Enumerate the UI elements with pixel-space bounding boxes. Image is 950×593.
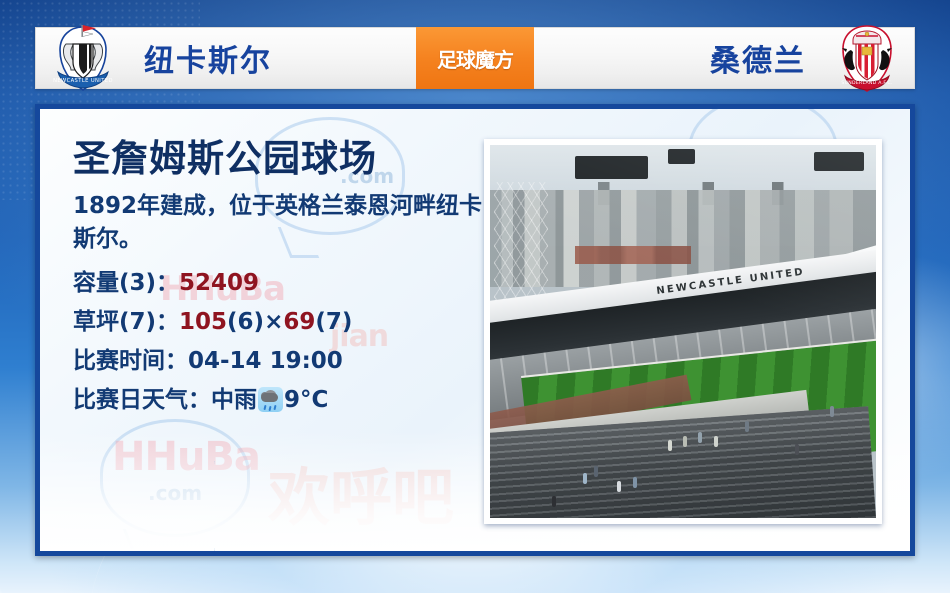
pitch-multiply-sign: × — [264, 309, 283, 335]
pitch-label: 草坪(7)： — [73, 309, 179, 335]
match-time-row: 比赛时间：04-14 19:00 — [73, 342, 483, 381]
stadium-title: 圣詹姆斯公园球场 — [73, 139, 483, 180]
sunderland-crest-icon: SUNDERLAND A.F.C. — [834, 22, 900, 94]
stadium-description: 1892年建成，位于英格兰泰恩河畔纽卡斯尔。 — [73, 190, 483, 256]
away-team-name: 桑德兰 — [710, 36, 806, 80]
pitch-width-rank: (7) — [315, 309, 352, 335]
capacity-row: 容量(3)：52409 — [73, 264, 483, 303]
pitch-length-value: 105 — [179, 309, 227, 335]
home-team-name: 纽卡斯尔 — [144, 36, 272, 80]
st-james-park-stadium-photo: NEWCASTLE UNITED — [490, 145, 876, 518]
match-header-bar: NEWCASTLE UNITED 纽卡斯尔 足球魔方 桑德兰 — [35, 27, 915, 89]
weather-row: 比赛日天气：中雨9°C — [73, 381, 483, 420]
svg-text:NEWCASTLE UNITED: NEWCASTLE UNITED — [53, 78, 113, 84]
match-time-label: 比赛时间： — [73, 348, 188, 374]
pitch-width-value: 69 — [283, 309, 315, 335]
away-team-block[interactable]: 桑德兰 SUNDERLAND A.F.C. — [534, 28, 914, 88]
match-time-value: 04-14 19:00 — [188, 348, 343, 374]
capacity-value: 52409 — [179, 270, 259, 296]
capacity-label: 容量(3)： — [73, 270, 179, 296]
svg-text:SUNDERLAND A.F.C.: SUNDERLAND A.F.C. — [841, 80, 892, 86]
weather-label: 比赛日天气： — [73, 387, 211, 413]
pitch-length-rank: (6) — [227, 309, 264, 335]
pitch-row: 草坪(7)：105(6)×69(7) — [73, 303, 483, 342]
newcastle-united-crest-icon: NEWCASTLE UNITED — [50, 22, 116, 94]
stadium-photo-frame: NEWCASTLE UNITED — [484, 139, 882, 524]
home-team-block[interactable]: NEWCASTLE UNITED 纽卡斯尔 — [36, 28, 416, 88]
brand-logo-text: 足球魔方 — [437, 44, 513, 73]
weather-value: 中雨 — [211, 387, 257, 413]
temperature-value: 9°C — [284, 387, 328, 413]
stadium-info-column: 圣詹姆斯公园球场 1892年建成，位于英格兰泰恩河畔纽卡斯尔。 容量(3)：52… — [73, 139, 483, 420]
stadium-info-panel: .com .com HHuBa .com 欢呼吧 jian HHuBa 圣詹姆斯… — [35, 104, 915, 556]
brand-logo[interactable]: 足球魔方 — [416, 27, 534, 89]
rain-cloud-icon — [258, 387, 283, 412]
